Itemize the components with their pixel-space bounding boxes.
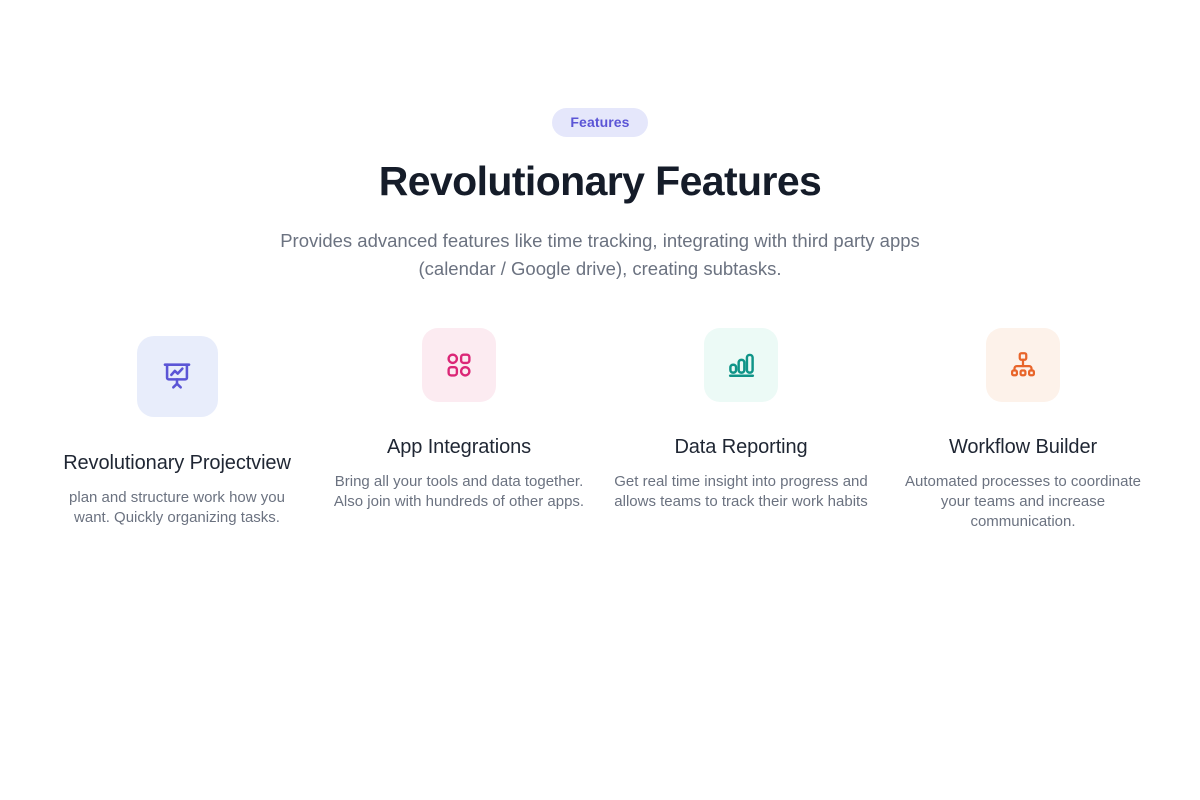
feature-card-revolutionary-projectview[interactable]: Revolutionary Projectview plan and struc… (36, 328, 318, 532)
feature-title: Data Reporting (674, 434, 807, 460)
presentation-chart-icon (160, 359, 194, 393)
feature-description: Get real time insight into progress and … (612, 472, 870, 512)
feature-description: plan and structure work how you want. Qu… (57, 488, 297, 528)
feature-title: Revolutionary Projectview (63, 450, 291, 476)
bar-chart-icon (726, 349, 757, 380)
feature-title: App Integrations (387, 434, 531, 460)
features-section: Features Revolutionary Features Provides… (0, 0, 1200, 800)
page-title: Revolutionary Features (0, 158, 1200, 205)
feature-title: Workflow Builder (949, 434, 1097, 460)
feature-card-data-reporting[interactable]: Data Reporting Get real time insight int… (600, 328, 882, 532)
icon-tile-revolutionary-projectview (137, 336, 218, 417)
app-grid-icon (444, 350, 474, 380)
icon-tile-app-integrations (422, 328, 496, 402)
feature-card-app-integrations[interactable]: App Integrations Bring all your tools an… (318, 328, 600, 532)
feature-description: Automated processes to coordinate your t… (894, 472, 1152, 532)
workflow-hierarchy-icon (1008, 350, 1038, 380)
icon-tile-data-reporting (704, 328, 778, 402)
icon-tile-workflow-builder (986, 328, 1060, 402)
section-header: Features Revolutionary Features Provides… (0, 0, 1200, 283)
section-badge: Features (552, 108, 647, 137)
feature-card-workflow-builder[interactable]: Workflow Builder Automated processes to … (882, 328, 1164, 532)
section-subtitle: Provides advanced features like time tra… (255, 227, 945, 283)
features-grid: Revolutionary Projectview plan and struc… (0, 328, 1200, 532)
feature-description: Bring all your tools and data together. … (330, 472, 588, 512)
